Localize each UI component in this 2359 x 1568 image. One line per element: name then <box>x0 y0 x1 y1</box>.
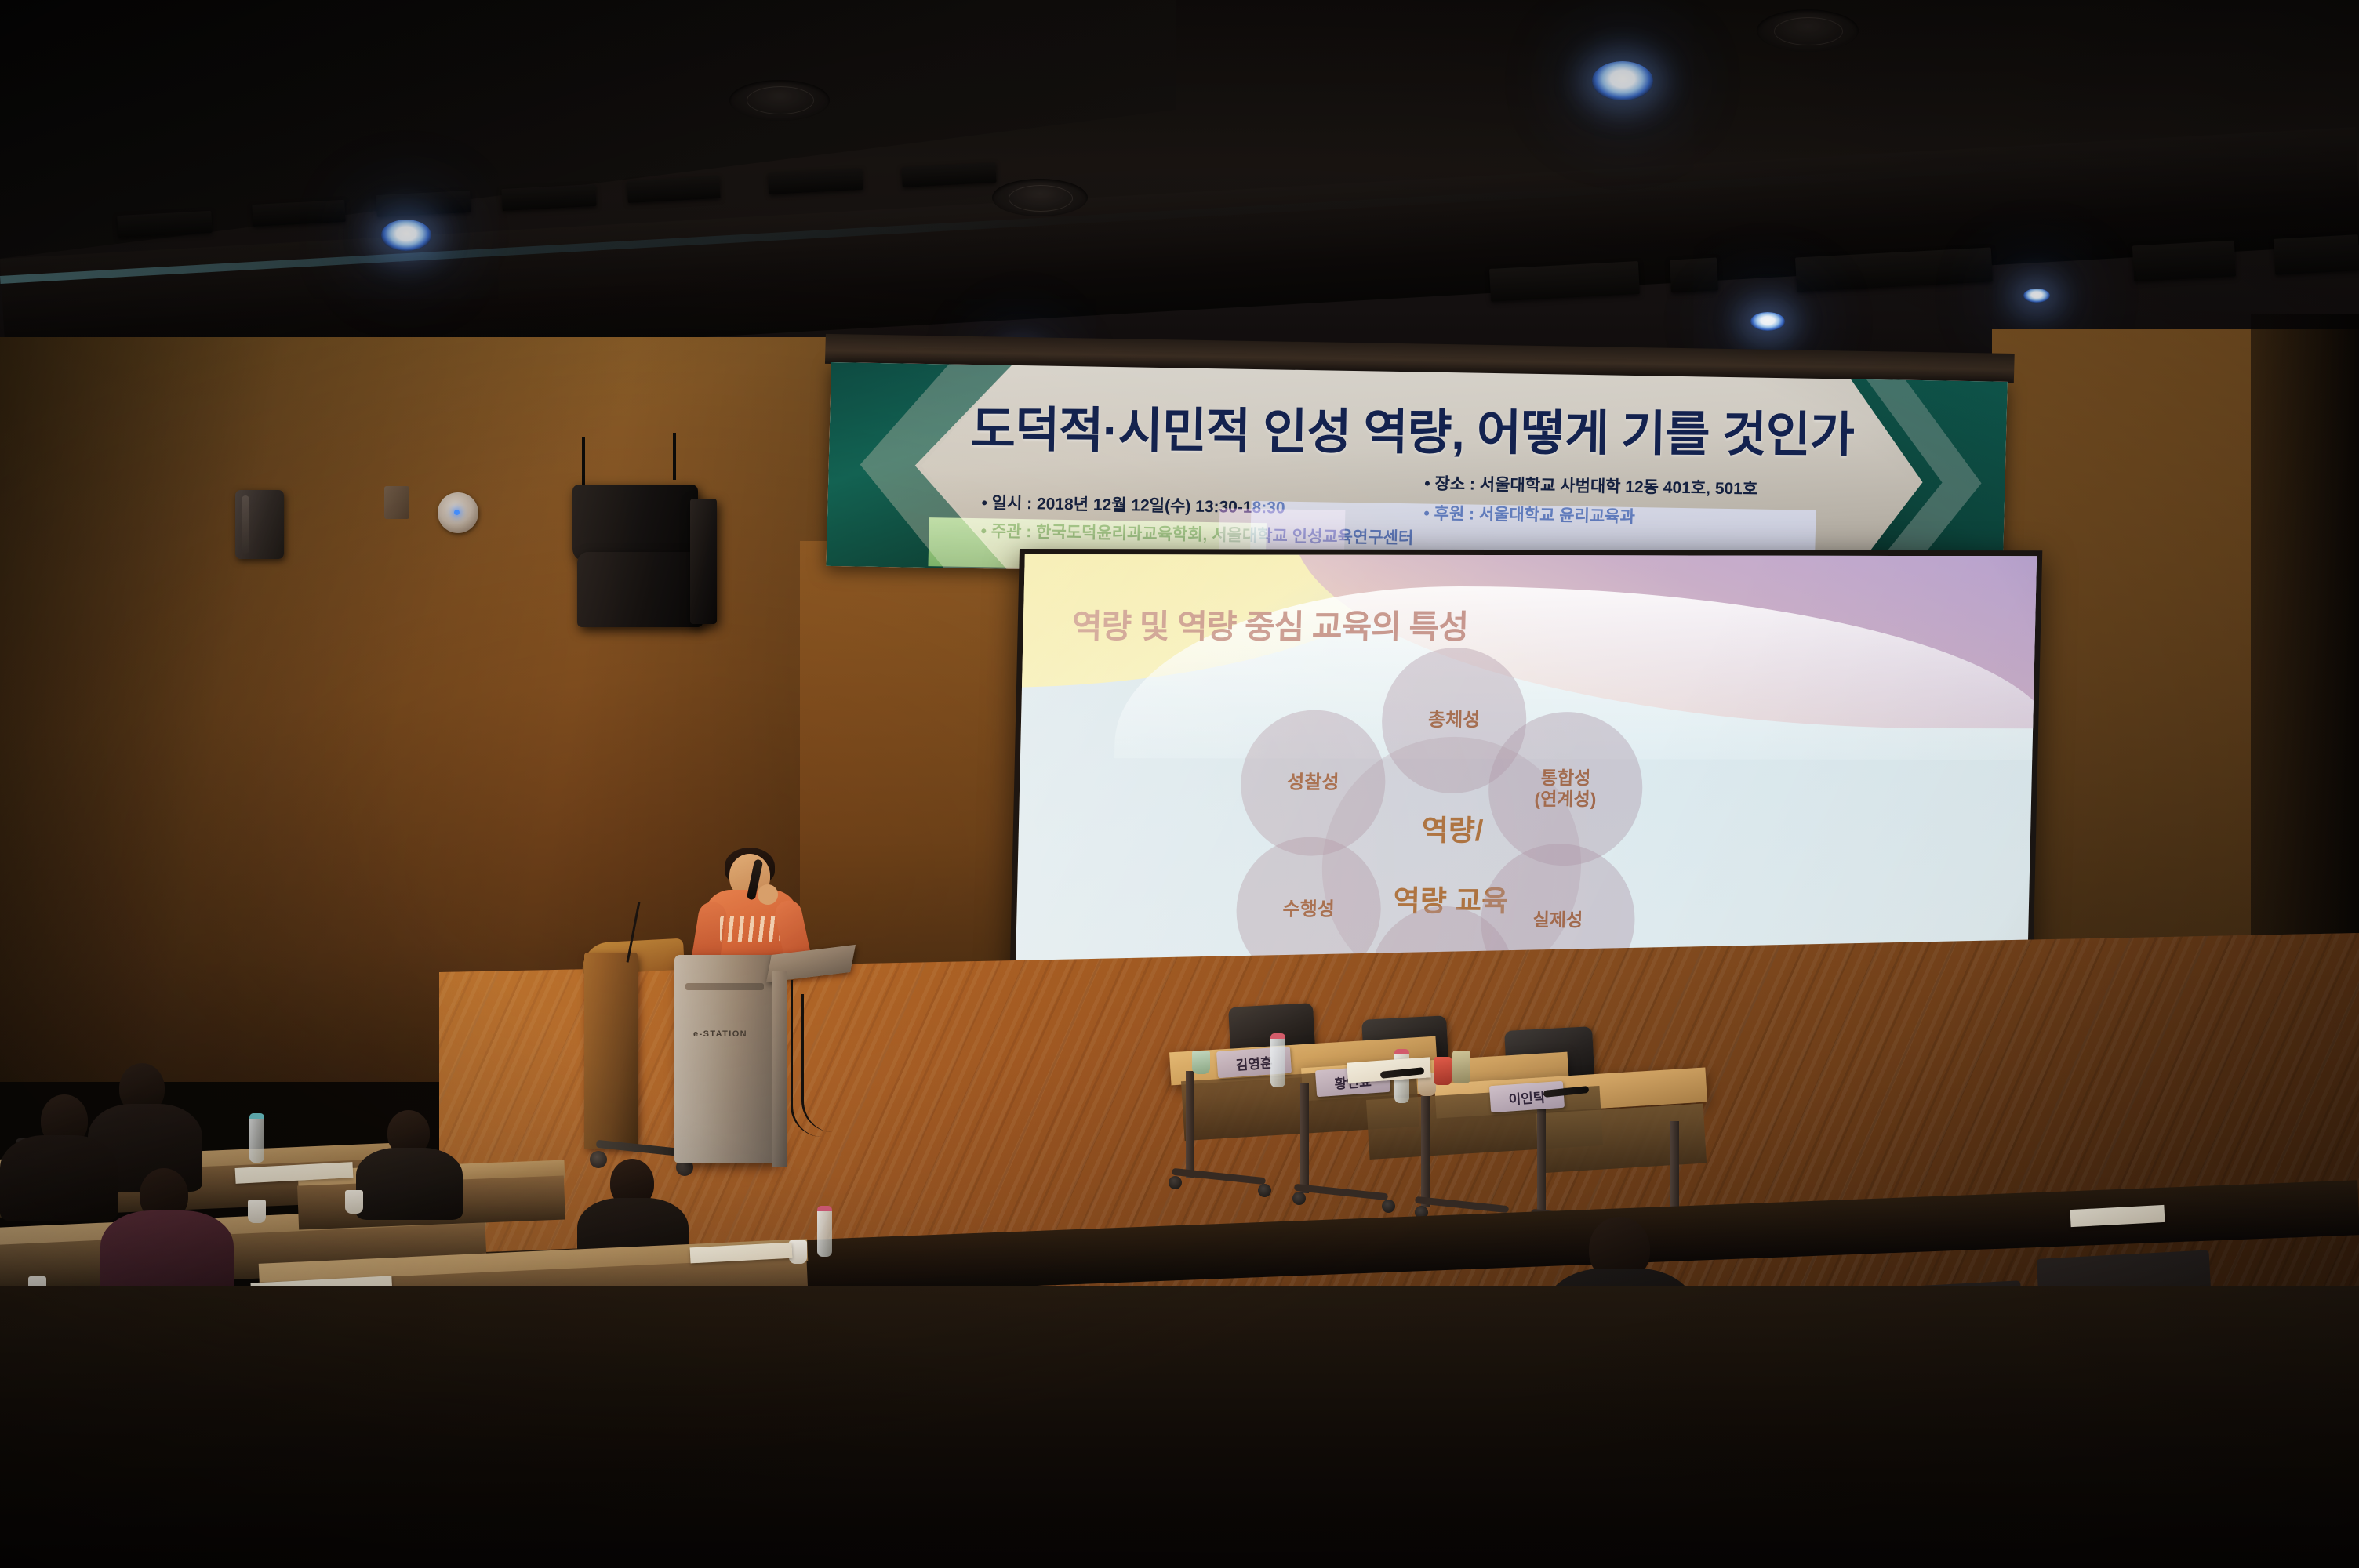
sensor-led-icon <box>454 510 460 515</box>
nameplate: 이인탁 <box>1489 1081 1565 1112</box>
paper-cup <box>345 1190 363 1214</box>
slide-node-upper-right: 통합성 (연계성) <box>1487 712 1644 866</box>
acoustic-baffle <box>2132 241 2236 282</box>
table-leg <box>1300 1083 1309 1193</box>
table-leg <box>1421 1096 1430 1207</box>
banner-title: 도덕적·시민적 인성 역량, 어떻게 기를 것인가 <box>970 390 1904 466</box>
line-array-amp <box>690 499 717 624</box>
ceiling-vent-ring <box>747 86 814 114</box>
slide-node-lower-left-label: 수행성 <box>1282 898 1335 920</box>
slide-node-lower-right-label: 실제성 <box>1532 909 1583 931</box>
slide-node-top-label: 총체성 <box>1428 710 1481 731</box>
podium-cable <box>801 994 848 1132</box>
paper-cup <box>248 1200 266 1223</box>
line-array-speaker <box>577 552 703 627</box>
slide-title: 역량 및 역량 중심 교육의 특성 <box>1071 600 1469 648</box>
caster-icon <box>1169 1176 1182 1189</box>
speaker-shirt-print <box>720 916 780 942</box>
podium-shelf-support <box>772 971 787 1167</box>
ceiling-downlight <box>381 220 431 251</box>
slide-node-upper-left-label: 성찰성 <box>1287 771 1339 793</box>
caster-icon <box>1258 1184 1271 1197</box>
table-leg <box>1537 1109 1546 1221</box>
water-bottle <box>1270 1033 1285 1087</box>
tumbler <box>1434 1057 1452 1085</box>
speaker-hanger-wire <box>582 437 585 489</box>
line-array-speaker <box>572 485 698 561</box>
paper-cup <box>1192 1051 1210 1074</box>
podium-brand-label: e-STATION <box>693 1029 747 1039</box>
caster-icon <box>1382 1200 1395 1213</box>
caster-icon <box>1292 1192 1306 1205</box>
slide-node-upper-right-label: 통합성 (연계성) <box>1534 768 1597 810</box>
speaker-hand <box>758 884 778 905</box>
podium <box>674 955 776 1163</box>
ceiling-downlight <box>1592 61 1653 100</box>
table-leg <box>1186 1071 1194 1178</box>
attendee-body <box>0 1135 118 1221</box>
caster-icon <box>590 1151 607 1168</box>
wall-plate-icon <box>384 486 409 519</box>
ceiling-vent-ring <box>1009 185 1073 212</box>
attendee-body <box>356 1148 463 1220</box>
water-bottle <box>817 1206 832 1257</box>
auditorium-photo: 도덕적·시민적 인성 역량, 어떻게 기를 것인가 • 일시 : 2018년 1… <box>0 0 2359 1568</box>
front-floor <box>0 1286 2359 1568</box>
acoustic-baffle <box>2274 234 2359 275</box>
speaker-hanger-wire <box>673 433 676 480</box>
nameplate-label: 김영훈 <box>1235 1051 1274 1073</box>
slide-node-center-line1: 역량/ <box>1421 814 1483 848</box>
ceiling-downlight <box>2023 289 2050 303</box>
tumbler <box>1452 1051 1470 1083</box>
panel-table-skirt <box>1536 1104 1707 1174</box>
acoustic-baffle <box>1670 257 1718 292</box>
wall-speaker-icon <box>235 490 284 559</box>
water-bottle <box>249 1113 264 1163</box>
side-table-leg <box>584 953 638 1149</box>
ceiling-vent-ring <box>1774 17 1843 45</box>
nameplate-label: 이인탁 <box>1508 1086 1547 1108</box>
ceiling-downlight <box>1750 312 1785 331</box>
